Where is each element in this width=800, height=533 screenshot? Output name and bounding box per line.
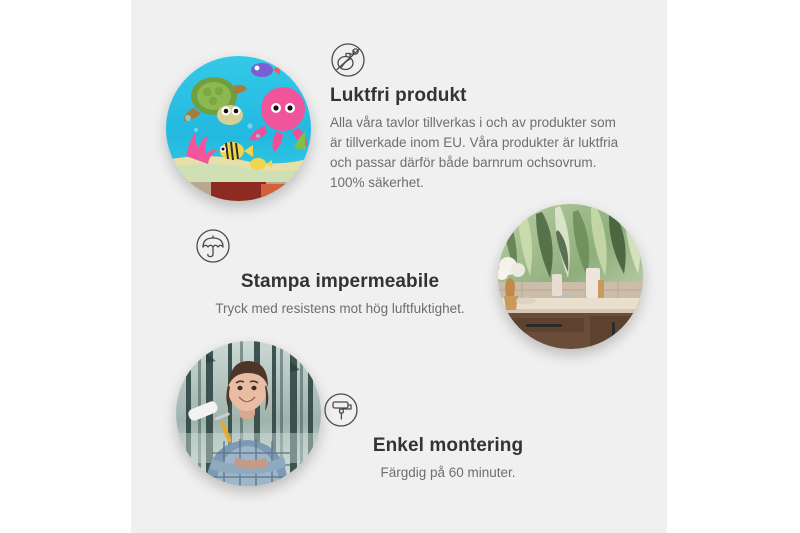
no-odour-spray-bottle-icon [330,42,630,78]
feature-title: Enkel montering [323,434,573,458]
feature-block-montering: Enkel montering Färgdig på 60 minuter. [323,392,573,483]
feature-block-impermeabile: Stampa impermeabile Tryck med resistens … [195,228,485,319]
underwater-cartoon-mural-photo [166,56,311,201]
woman-with-paint-roller-forest-photo [176,341,321,486]
feature-title: Stampa impermeabile [195,270,485,294]
promo-graphic: Luktfri produkt Alla våra tavlor tillver… [0,0,800,533]
feature-title: Luktfri produkt [330,84,630,108]
feature-body: Tryck med resistens mot hög luftfuktighe… [195,299,485,319]
feature-block-luktfri: Luktfri produkt Alla våra tavlor tillver… [330,42,630,193]
bathroom-botanical-wallpaper-photo [498,204,643,349]
feature-body: Alla våra tavlor tillverkas i och av pro… [330,113,630,193]
feature-body: Färgdig på 60 minuter. [323,463,573,483]
paint-roller-icon [323,392,573,428]
umbrella-icon [195,228,485,264]
